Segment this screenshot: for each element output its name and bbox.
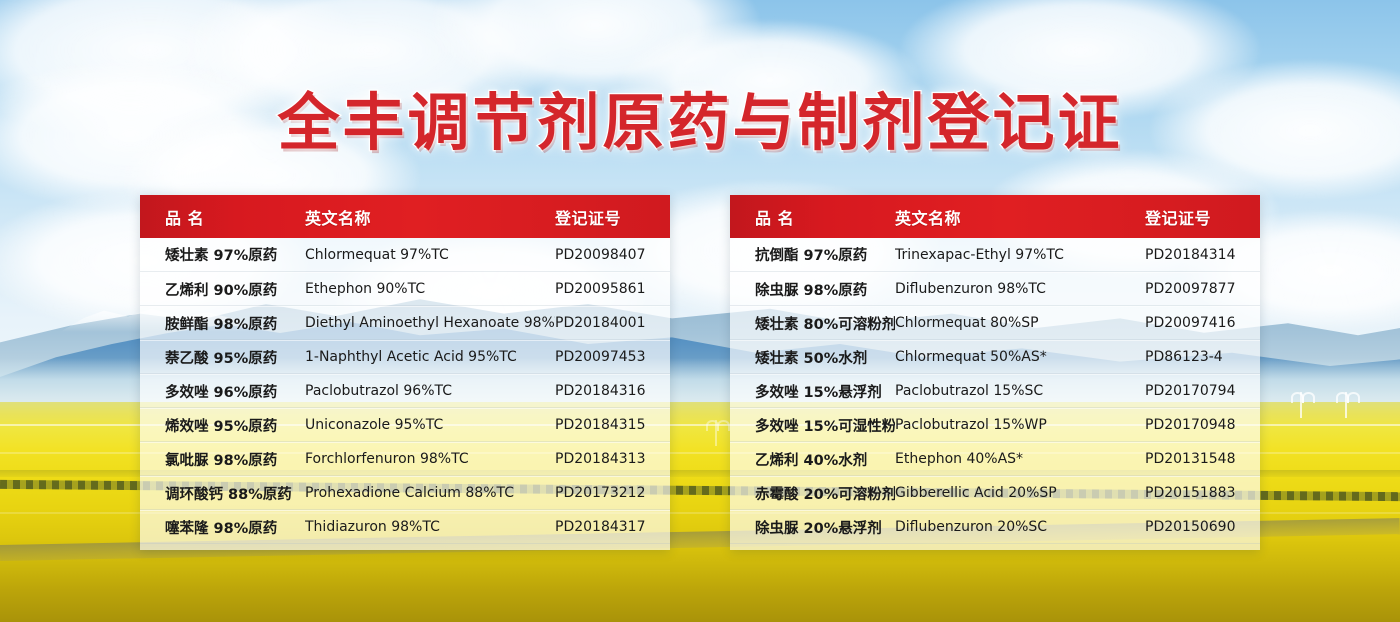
- power-pylon: [715, 420, 717, 446]
- cell-product-name: 萘乙酸 95%原药: [140, 347, 305, 368]
- cell-registration-no: PD20170794: [1145, 383, 1260, 399]
- column-header-english-name: 英文名称: [895, 205, 1145, 229]
- table-row[interactable]: 矮壮素 97%原药 Chlormequat 97%TC PD20098407: [140, 238, 670, 272]
- cell-registration-no: PD20150690: [1145, 519, 1260, 535]
- cell-product-name: 抗倒酯 97%原药: [730, 244, 895, 265]
- power-pylon: [1345, 392, 1347, 418]
- table-row[interactable]: 多效唑 96%原药 Paclobutrazol 96%TC PD20184316: [140, 374, 670, 408]
- column-header-english-name: 英文名称: [305, 205, 555, 229]
- table-row[interactable]: 烯效唑 95%原药 Uniconazole 95%TC PD20184315: [140, 408, 670, 442]
- cell-english-name: Diethyl Aminoethyl Hexanoate 98%TC: [305, 315, 555, 331]
- table-row[interactable]: 氯吡脲 98%原药 Forchlorfenuron 98%TC PD201843…: [140, 442, 670, 476]
- registration-table-right: 品 名 英文名称 登记证号 抗倒酯 97%原药 Trinexapac-Ethyl…: [730, 195, 1260, 550]
- cell-registration-no: PD20097453: [555, 349, 670, 365]
- cell-registration-no: PD20173212: [555, 485, 670, 501]
- cell-product-name: 调环酸钙 88%原药: [140, 483, 305, 504]
- table-row[interactable]: 乙烯利 40%水剂 Ethephon 40%AS* PD20131548: [730, 442, 1260, 476]
- table-row[interactable]: 除虫脲 98%原药 Diflubenzuron 98%TC PD20097877: [730, 272, 1260, 306]
- cell-registration-no: PD20184316: [555, 383, 670, 399]
- cell-product-name: 矮壮素 50%水剂: [730, 347, 895, 368]
- cell-product-name: 矮壮素 97%原药: [140, 244, 305, 265]
- cell-product-name: 多效唑 96%原药: [140, 381, 305, 402]
- table-row[interactable]: 赤霉酸 20%可溶粉剂 Gibberellic Acid 20%SP PD201…: [730, 476, 1260, 510]
- cell-english-name: Gibberellic Acid 20%SP: [895, 485, 1145, 501]
- cell-english-name: Paclobutrazol 15%WP: [895, 417, 1145, 433]
- cell-registration-no: PD20097416: [1145, 315, 1260, 331]
- cell-registration-no: PD20184317: [555, 519, 670, 535]
- cell-english-name: Ethephon 90%TC: [305, 281, 555, 297]
- cell-registration-no: PD20184314: [1145, 247, 1260, 263]
- page-title: 全丰调节剂原药与制剂登记证: [277, 72, 1122, 162]
- table-row[interactable]: 萘乙酸 95%原药 1-Naphthyl Acetic Acid 95%TC P…: [140, 340, 670, 374]
- table-body: 矮壮素 97%原药 Chlormequat 97%TC PD20098407 乙…: [140, 238, 670, 550]
- cell-english-name: 1-Naphthyl Acetic Acid 95%TC: [305, 349, 555, 365]
- cell-product-name: 多效唑 15%可湿性粉剂: [730, 415, 895, 436]
- cell-product-name: 烯效唑 95%原药: [140, 415, 305, 436]
- column-header-registration-no: 登记证号: [1145, 205, 1260, 229]
- cell-english-name: Thidiazuron 98%TC: [305, 519, 555, 535]
- cell-registration-no: PD20170948: [1145, 417, 1260, 433]
- cell-product-name: 乙烯利 40%水剂: [730, 449, 895, 470]
- table-row[interactable]: 抗倒酯 97%原药 Trinexapac-Ethyl 97%TC PD20184…: [730, 238, 1260, 272]
- cell-registration-no: PD20184001: [555, 315, 670, 331]
- registration-table-left: 品 名 英文名称 登记证号 矮壮素 97%原药 Chlormequat 97%T…: [140, 195, 670, 550]
- table-header-row: 品 名 英文名称 登记证号: [140, 195, 670, 238]
- cell-product-name: 氯吡脲 98%原药: [140, 449, 305, 470]
- page-title-container: 全丰调节剂原药与制剂登记证: [0, 72, 1400, 162]
- table-row[interactable]: 胺鲜酯 98%原药 Diethyl Aminoethyl Hexanoate 9…: [140, 306, 670, 340]
- cell-english-name: Uniconazole 95%TC: [305, 417, 555, 433]
- cell-product-name: 除虫脲 98%原药: [730, 279, 895, 300]
- cell-product-name: 噻苯隆 98%原药: [140, 517, 305, 538]
- table-row[interactable]: 矮壮素 50%水剂 Chlormequat 50%AS* PD86123-4: [730, 340, 1260, 374]
- power-pylon: [1300, 392, 1302, 418]
- cell-english-name: Forchlorfenuron 98%TC: [305, 451, 555, 467]
- cell-english-name: Chlormequat 50%AS*: [895, 349, 1145, 365]
- table-body: 抗倒酯 97%原药 Trinexapac-Ethyl 97%TC PD20184…: [730, 238, 1260, 550]
- cell-registration-no: PD20098407: [555, 247, 670, 263]
- cell-product-name: 矮壮素 80%可溶粉剂: [730, 313, 895, 334]
- column-header-product-name: 品 名: [730, 205, 895, 229]
- table-row[interactable]: 调环酸钙 88%原药 Prohexadione Calcium 88%TC PD…: [140, 476, 670, 510]
- cell-english-name: Chlormequat 97%TC: [305, 247, 555, 263]
- cell-registration-no: PD20151883: [1145, 485, 1260, 501]
- cell-product-name: 赤霉酸 20%可溶粉剂: [730, 483, 895, 504]
- table-row[interactable]: 多效唑 15%悬浮剂 Paclobutrazol 15%SC PD2017079…: [730, 374, 1260, 408]
- cell-registration-no: PD20131548: [1145, 451, 1260, 467]
- table-header-row: 品 名 英文名称 登记证号: [730, 195, 1260, 238]
- table-row[interactable]: 乙烯利 90%原药 Ethephon 90%TC PD20095861: [140, 272, 670, 306]
- cell-registration-no: PD20184315: [555, 417, 670, 433]
- cell-registration-no: PD20097877: [1145, 281, 1260, 297]
- cell-product-name: 除虫脲 20%悬浮剂: [730, 517, 895, 538]
- poster-canvas: 全丰调节剂原药与制剂登记证 品 名 英文名称 登记证号 矮壮素 97%原药 Ch…: [0, 0, 1400, 622]
- table-row[interactable]: 矮壮素 80%可溶粉剂 Chlormequat 80%SP PD20097416: [730, 306, 1260, 340]
- cell-product-name: 乙烯利 90%原药: [140, 279, 305, 300]
- cell-english-name: Chlormequat 80%SP: [895, 315, 1145, 331]
- cell-registration-no: PD20095861: [555, 281, 670, 297]
- table-row[interactable]: 多效唑 15%可湿性粉剂 Paclobutrazol 15%WP PD20170…: [730, 408, 1260, 442]
- table-row[interactable]: 噻苯隆 98%原药 Thidiazuron 98%TC PD20184317: [140, 510, 670, 544]
- column-header-product-name: 品 名: [140, 205, 305, 229]
- cell-english-name: Trinexapac-Ethyl 97%TC: [895, 247, 1145, 263]
- cell-english-name: Ethephon 40%AS*: [895, 451, 1145, 467]
- cell-english-name: Paclobutrazol 96%TC: [305, 383, 555, 399]
- cell-registration-no: PD20184313: [555, 451, 670, 467]
- cell-product-name: 胺鲜酯 98%原药: [140, 313, 305, 334]
- cell-registration-no: PD86123-4: [1145, 349, 1260, 365]
- table-row[interactable]: 除虫脲 20%悬浮剂 Diflubenzuron 20%SC PD2015069…: [730, 510, 1260, 544]
- cell-english-name: Diflubenzuron 98%TC: [895, 281, 1145, 297]
- cell-product-name: 多效唑 15%悬浮剂: [730, 381, 895, 402]
- cell-english-name: Paclobutrazol 15%SC: [895, 383, 1145, 399]
- cell-english-name: Prohexadione Calcium 88%TC: [305, 485, 555, 501]
- column-header-registration-no: 登记证号: [555, 205, 670, 229]
- cell-english-name: Diflubenzuron 20%SC: [895, 519, 1145, 535]
